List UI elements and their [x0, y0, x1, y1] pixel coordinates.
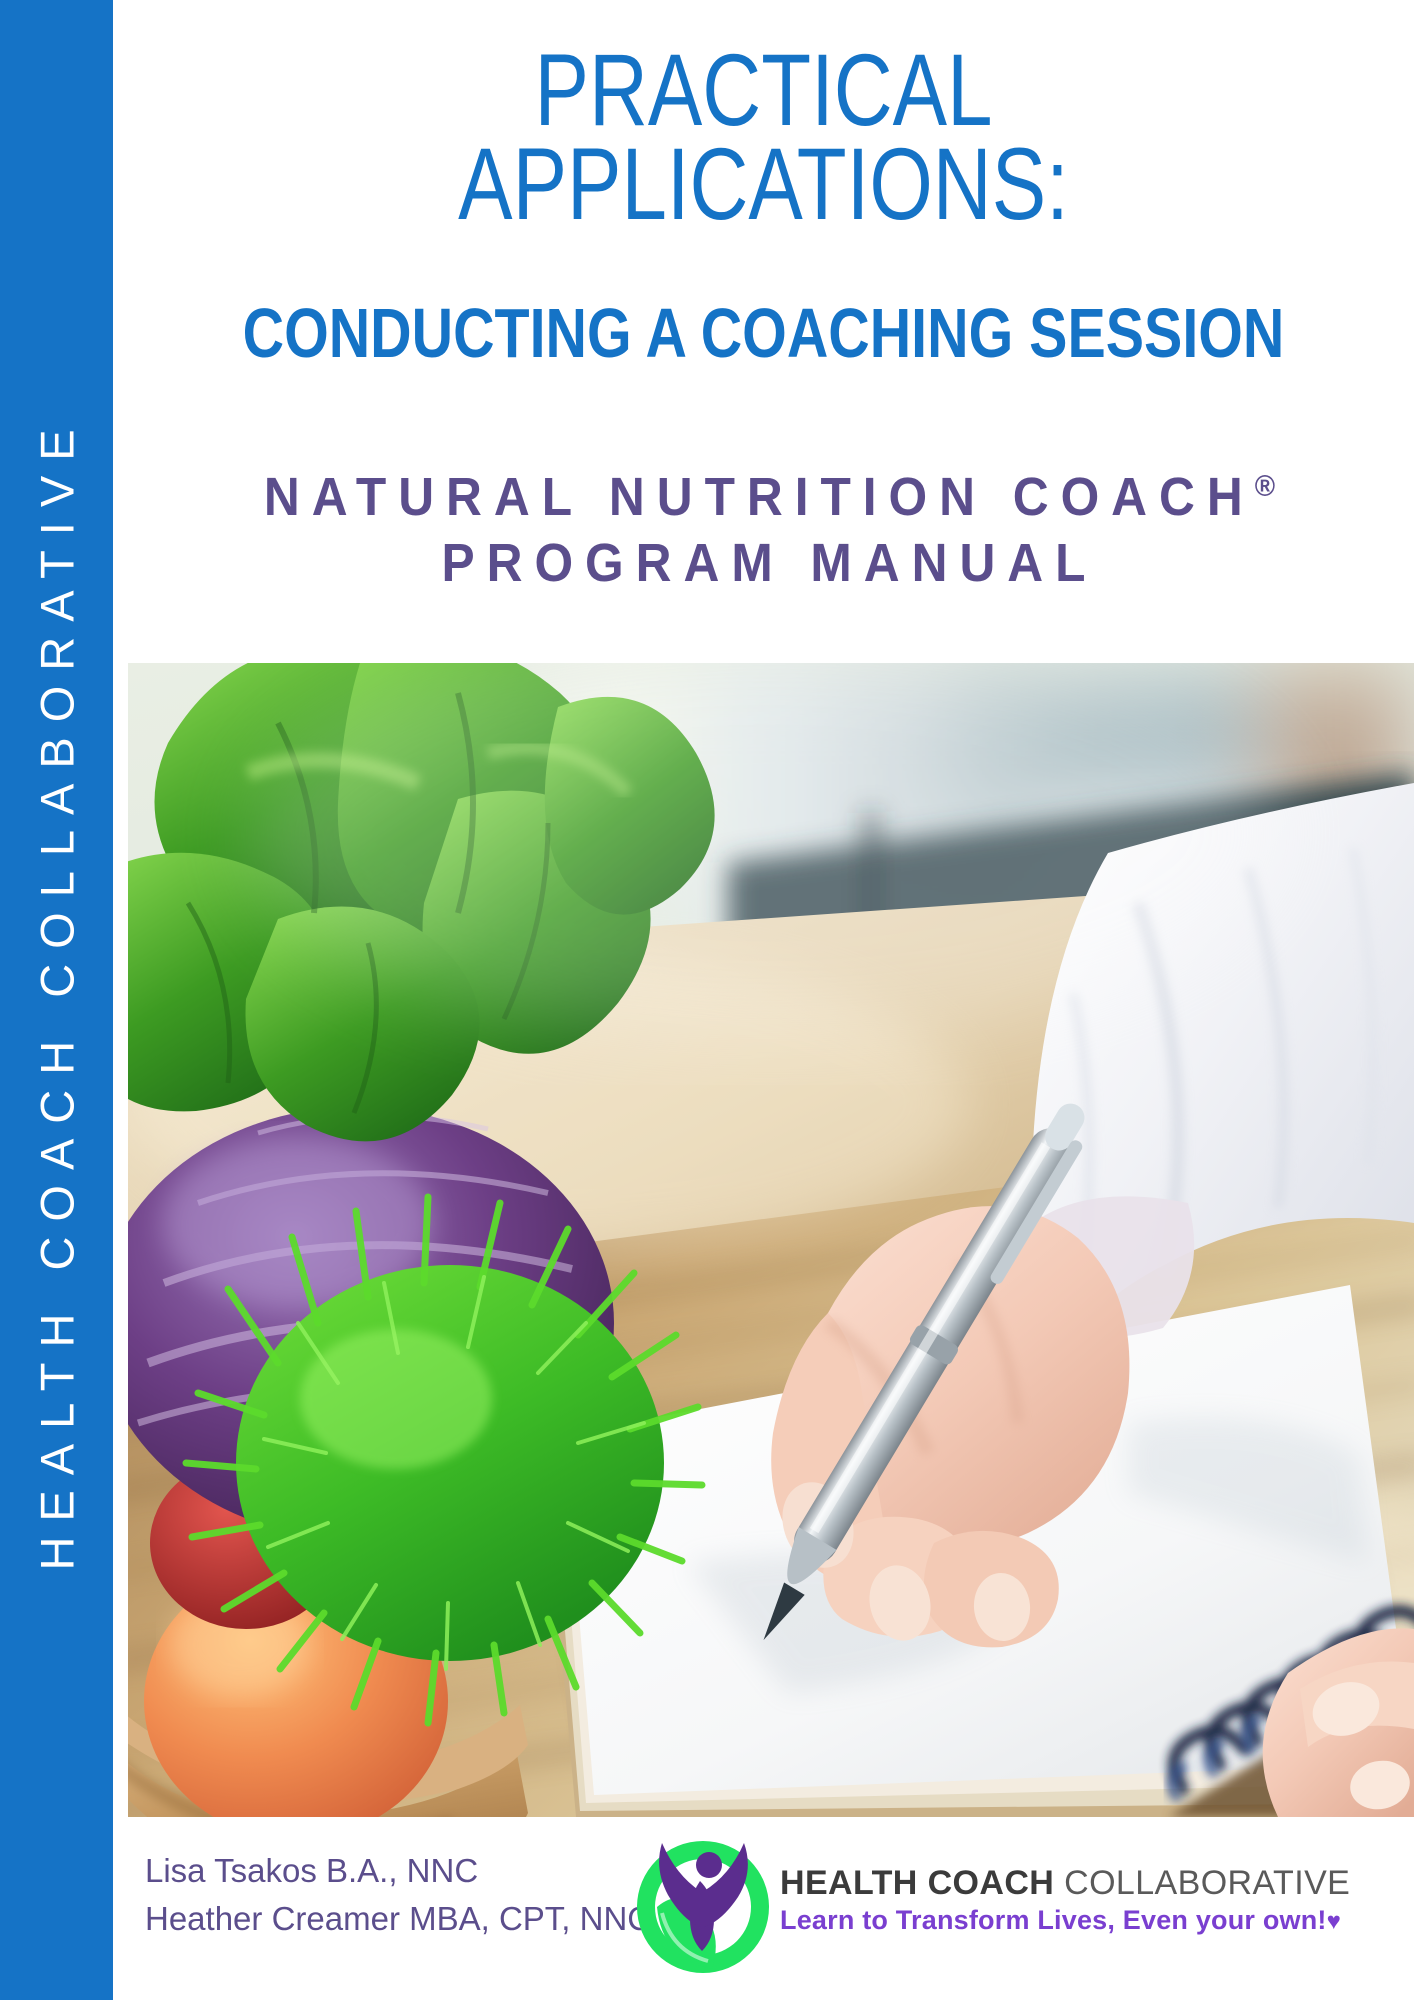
logo-tagline-text: Learn to Transform Lives, Even your own! [780, 1905, 1327, 1935]
logo-mark-icon [628, 1835, 778, 1981]
author-name: Heather Creamer MBA, CPT, NNC [145, 1895, 651, 1943]
photo-illustration [128, 663, 1414, 1817]
cover-photograph [128, 663, 1414, 1817]
cover-subtitle: CONDUCTING A COACHING SESSION [230, 298, 1297, 368]
left-brand-sidebar: HEALTH COACH COLLABORATIVE [0, 0, 113, 2000]
sidebar-vertical-brand-text: HEALTH COACH COLLABORATIVE [29, 414, 84, 1585]
logo-name-bold: HEALTH COACH [780, 1864, 1054, 1902]
leaf-figure-icon [628, 1835, 778, 1981]
program-line-2: PROGRAM MANUAL [165, 531, 1362, 597]
page-title: PRACTICAL APPLICATIONS: [243, 44, 1284, 232]
logo-company-name: HEALTH COACH COLLABORATIVE [780, 1865, 1400, 1902]
heart-icon: ♥ [1327, 1908, 1341, 1935]
cover-title-block: PRACTICAL APPLICATIONS: CONDUCTING A COA… [113, 0, 1414, 663]
figure-head [696, 1852, 722, 1878]
logo-tagline: Learn to Transform Lives, Even your own!… [780, 1905, 1400, 1936]
logo-name-light: COLLABORATIVE [1064, 1864, 1350, 1902]
cover-footer: Lisa Tsakos B.A., NNC Heather Creamer MB… [113, 1817, 1414, 2000]
title-line-2: APPLICATIONS: [243, 138, 1284, 232]
program-line-1: NATURAL NUTRITION COACH [264, 467, 1255, 527]
logo-wordmark: HEALTH COACH COLLABORATIVE Learn to Tran… [780, 1865, 1400, 1936]
author-list: Lisa Tsakos B.A., NNC Heather Creamer MB… [145, 1847, 651, 1943]
registered-trademark-icon: ® [1255, 470, 1275, 503]
health-coach-collaborative-logo: HEALTH COACH COLLABORATIVE Learn to Tran… [628, 1833, 1398, 1983]
author-name: Lisa Tsakos B.A., NNC [145, 1847, 651, 1895]
program-manual-label: NATURAL NUTRITION COACH® PROGRAM MANUAL [165, 465, 1362, 597]
